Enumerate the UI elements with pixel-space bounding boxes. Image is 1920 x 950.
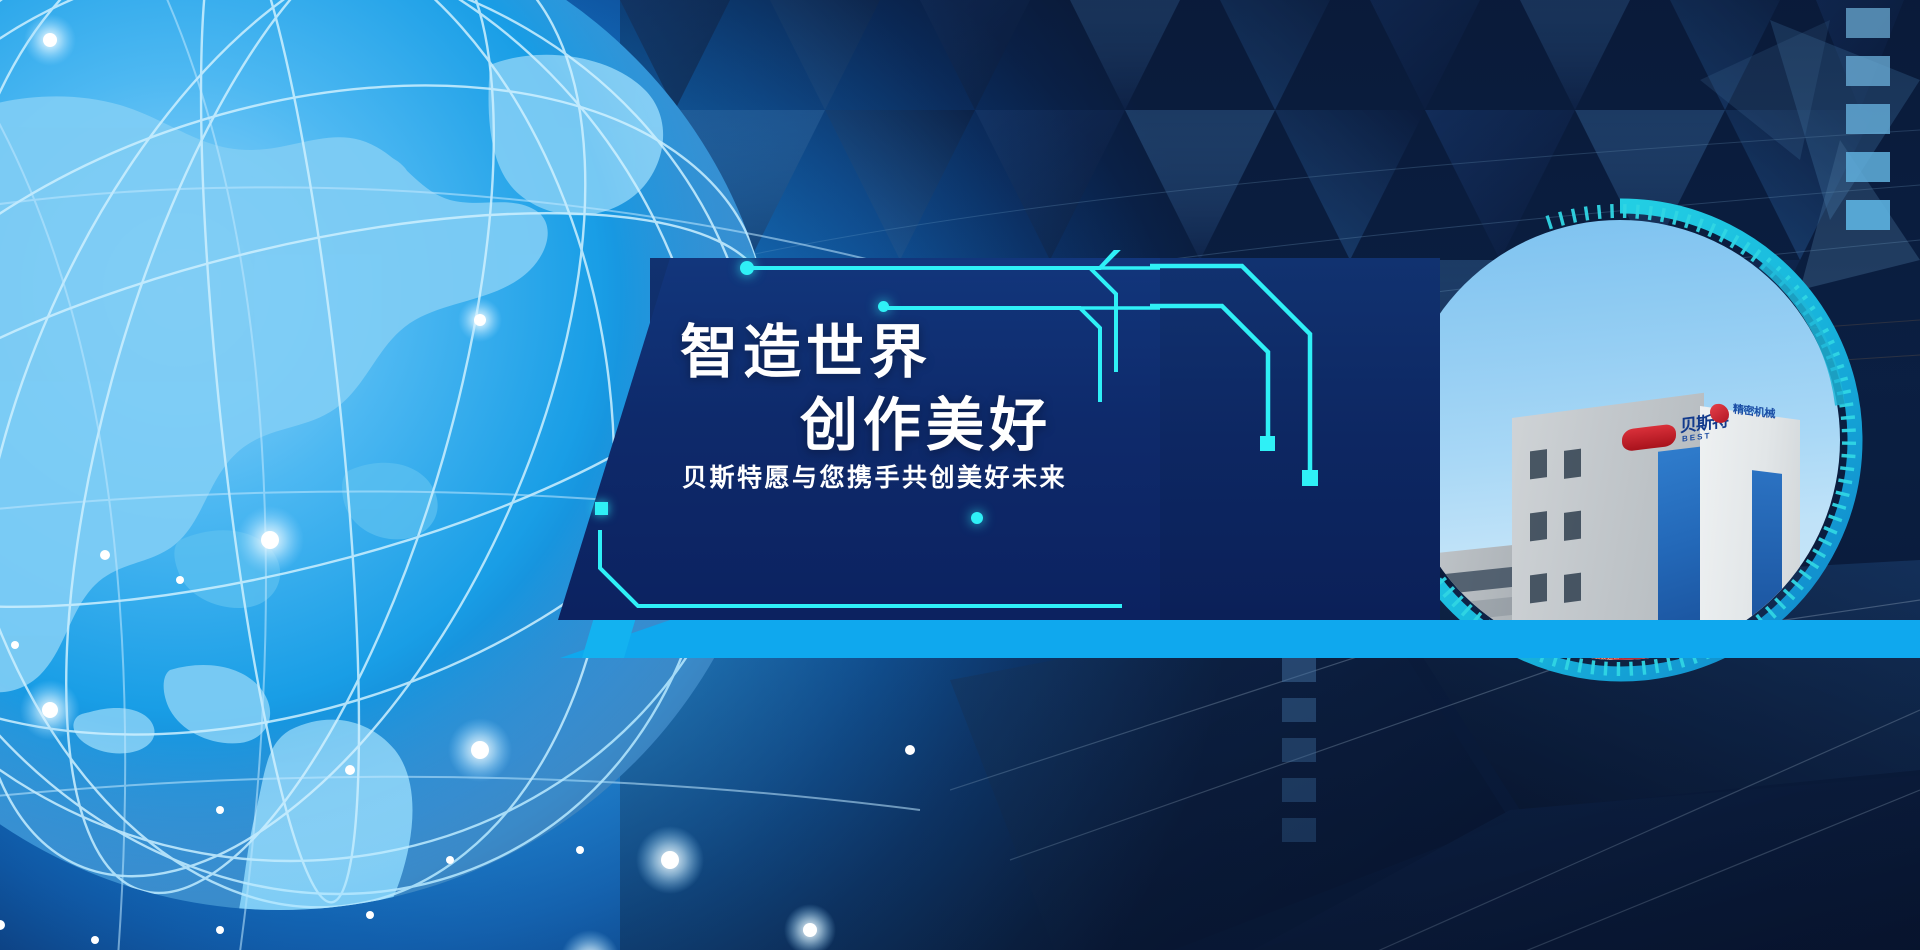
circuit-node-top bbox=[740, 261, 754, 275]
decor-bars-middle bbox=[1282, 658, 1316, 858]
banner-hero: 贝斯特 BEST 精密机械 热烈欢迎前来洽谈考察 bbox=[0, 0, 1920, 950]
decor-bar bbox=[1846, 152, 1890, 182]
decor-bar bbox=[1282, 778, 1316, 802]
decor-bar bbox=[1846, 8, 1890, 38]
headline-line-2: 创作美好 bbox=[800, 378, 1052, 462]
decor-bar bbox=[1846, 104, 1890, 134]
card-circuit-bend bbox=[1150, 250, 1570, 670]
decor-bars-right bbox=[1846, 8, 1890, 248]
circuit-node-bottom bbox=[971, 512, 983, 524]
subheadline: 贝斯特愿与您携手共创美好未来 bbox=[682, 458, 1067, 494]
decor-bar bbox=[1282, 698, 1316, 722]
decor-bar bbox=[1282, 818, 1316, 842]
headline-line-1: 智造世界 bbox=[680, 305, 932, 389]
decor-bar bbox=[1846, 200, 1890, 230]
decor-bar bbox=[1282, 738, 1316, 762]
decor-bar bbox=[1846, 56, 1890, 86]
circuit-node-square-left bbox=[595, 502, 608, 515]
decor-bar bbox=[1282, 658, 1316, 682]
